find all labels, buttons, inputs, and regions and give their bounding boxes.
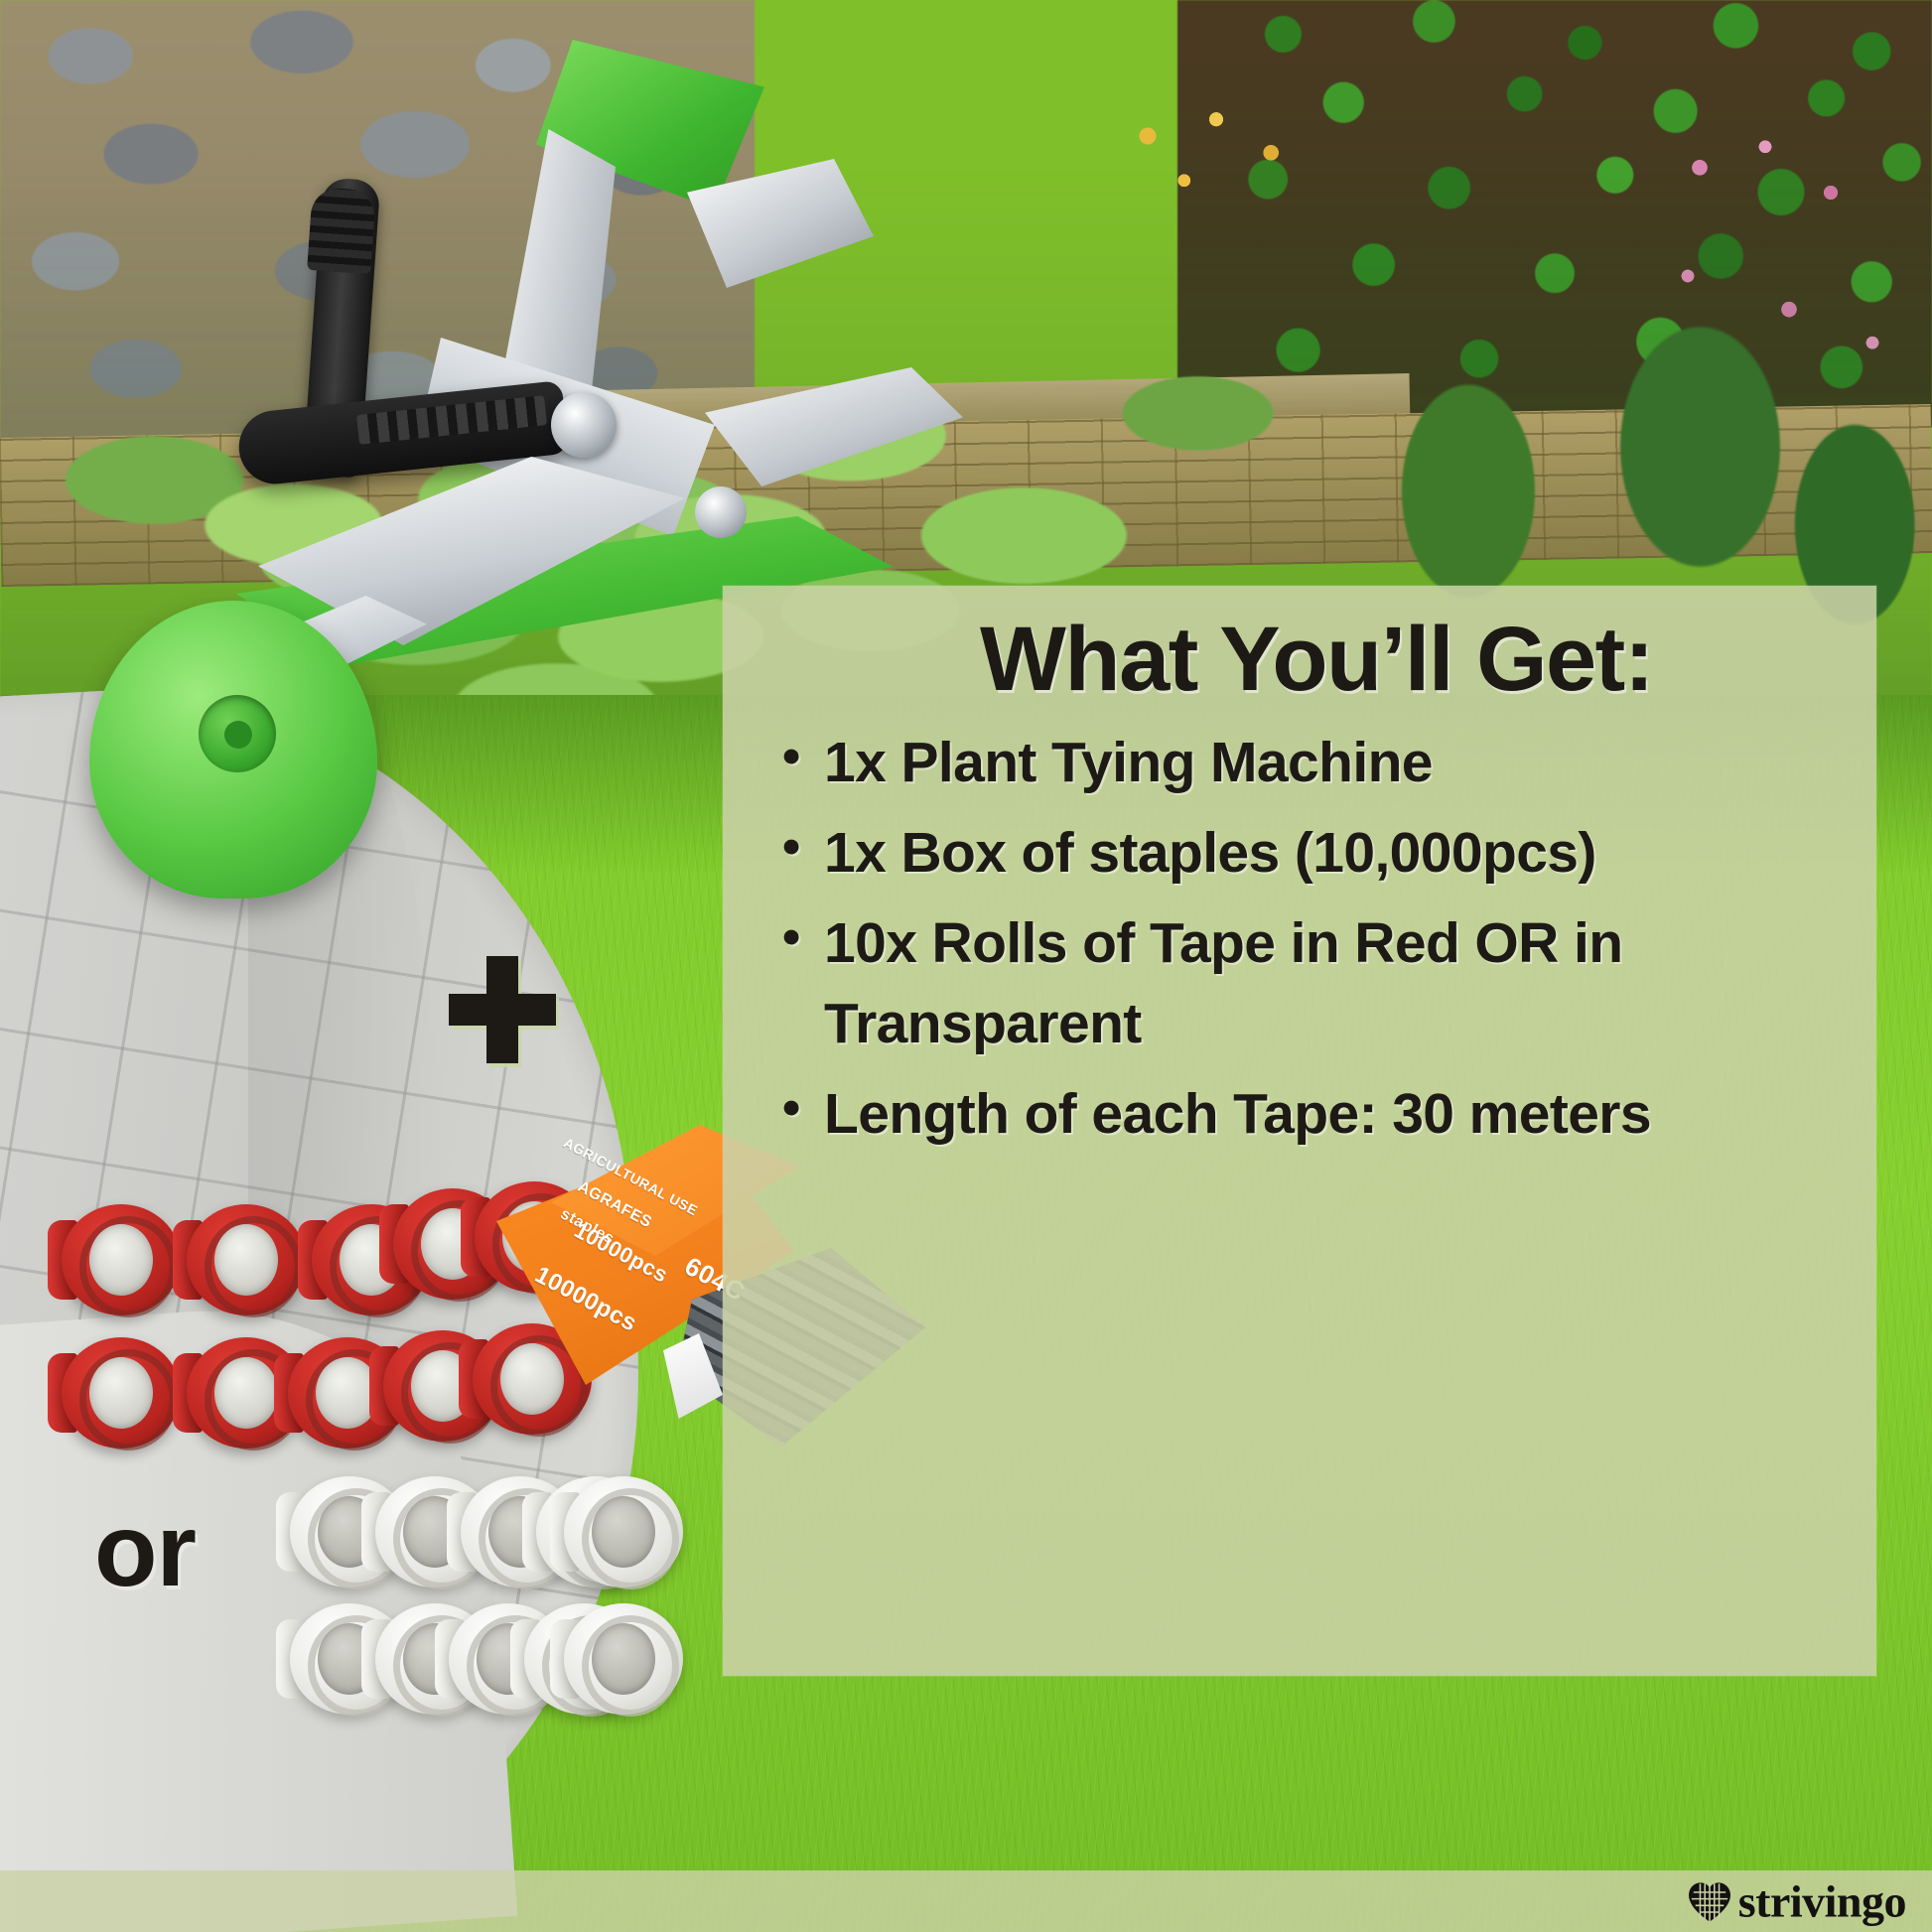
what-you-get-panel: What You’ll Get: 1x Plant Tying Machine … [723,586,1876,1676]
red-tape-roll [187,1204,306,1315]
transparent-tape-roll [564,1603,683,1715]
tool-handle-grip [307,187,376,274]
list-item: 10x Rolls of Tape in Red OR in Transpare… [768,903,1851,1064]
contents-list: 1x Plant Tying Machine 1x Box of staples… [768,723,1851,1165]
tool-secondary-pivot [695,486,747,538]
list-item: 1x Plant Tying Machine [768,723,1851,803]
infographic-canvas: AGRICULTURAL USE AGRAFES staples 10000pc… [0,0,1932,1932]
list-item: Length of each Tape: 30 meters [768,1074,1851,1155]
page-title: What You’ll Get: [800,608,1833,712]
brand-logo: strivingo [1687,1875,1906,1928]
tool-spool-pin [224,721,252,749]
brand-name: strivingo [1738,1875,1906,1928]
footer-bar: strivingo [0,1870,1932,1932]
red-tape-roll [62,1337,181,1449]
tool-pivot-bolt [551,392,617,458]
plus-icon [449,956,556,1063]
list-item: 1x Box of staples (10,000pcs) [768,813,1851,894]
transparent-tape-roll [564,1476,683,1587]
red-tape-roll [62,1204,181,1315]
tool-chrome-jaw [705,367,963,486]
heart-mesh-icon [1687,1880,1732,1922]
or-label: or [94,1492,196,1610]
